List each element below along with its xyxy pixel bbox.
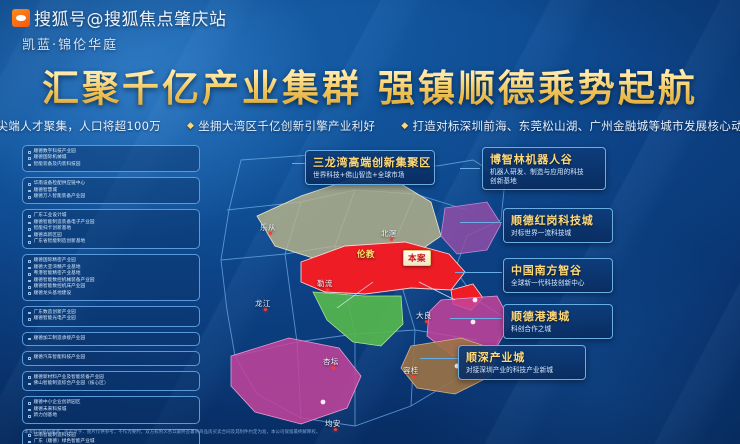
- park-item: 广东（顺德）绿色智能产业城: [28, 439, 195, 444]
- callout-title-honggang: 顺德红岗科技城: [511, 212, 605, 228]
- park-item-label: 顺德加工制造承接产业园: [34, 336, 86, 342]
- park-group-1[interactable]: 顺德数字科技产业园顺德国际机械城智能装备及内装科技园: [22, 145, 200, 172]
- square-bullet-icon: [28, 222, 31, 225]
- square-bullet-icon: [28, 338, 31, 341]
- park-item-label: 顺德龙头基地建设: [34, 291, 72, 297]
- park-group-2[interactable]: 华南设备检配供应链中心顺德智慧城顺德万人智能装备产业园: [22, 177, 200, 204]
- map-town-label: 均安: [325, 418, 341, 429]
- square-bullet-icon: [28, 376, 31, 379]
- square-bullet-icon: [28, 228, 31, 231]
- shunde-district-map: 陈村乐从北滘勒流龙江大良杏坛容桂均安 伦教 本案: [205, 150, 535, 430]
- square-bullet-icon: [28, 196, 31, 199]
- map-town-label: 勒流: [317, 278, 333, 289]
- square-bullet-icon: [28, 286, 31, 289]
- square-bullet-icon: [28, 292, 31, 295]
- page-title: 汇聚千亿产业集群 强镇顺德乘势起航: [0, 58, 740, 112]
- map-town-label: 北滘: [381, 228, 397, 239]
- square-bullet-icon: [28, 402, 31, 405]
- park-group-7[interactable]: 顺德汽车智能科技产业园: [22, 351, 200, 365]
- square-bullet-icon: [28, 215, 31, 218]
- square-bullet-icon: [28, 164, 31, 167]
- callout-title-bozhilin: 博智林机器人谷: [490, 151, 598, 167]
- bullet-list: ◆ 高尖端人才聚集，人口将超100万 ◆ 坐拥大湾区千亿创新引擎产业利好 ◆ 打…: [0, 118, 740, 134]
- callout-sub-sanlongwan: 世界科技+佛山智造+全球市场: [313, 171, 427, 180]
- square-bullet-icon: [28, 157, 31, 160]
- callout-title-gangaocheng: 顺德港澳城: [511, 308, 605, 324]
- callout-sub-gangaocheng: 科创合作之城: [511, 325, 605, 334]
- square-bullet-icon: [28, 441, 31, 444]
- square-bullet-icon: [28, 280, 31, 283]
- bullet-label-2: 坐拥大湾区千亿创新引擎产业利好: [198, 118, 375, 134]
- diamond-icon: ◆: [187, 121, 194, 131]
- lead-line-nanfangzhigu: [455, 272, 502, 273]
- square-bullet-icon: [28, 273, 31, 276]
- callout-title-nanfangzhigu: 中国南方智谷: [511, 262, 605, 278]
- park-item: 智能装备及内装科技园: [28, 162, 195, 168]
- bullet-item-1: ◆ 高尖端人才聚集，人口将超100万: [0, 118, 161, 134]
- bullet-label-1: 高尖端人才聚集，人口将超100万: [0, 118, 161, 134]
- map-town-label: 大良: [416, 310, 432, 321]
- square-bullet-icon: [28, 409, 31, 412]
- lead-line-honggang: [460, 222, 502, 223]
- park-item-label: 顺德汽车智能科技产业园: [34, 355, 86, 361]
- park-item: 顺德加工制造承接产业园: [28, 336, 195, 342]
- diamond-icon: ◆: [401, 121, 408, 131]
- park-item-label: 顺德万人智能装备产业园: [34, 194, 86, 200]
- park-item-label: 智能装备及内装科技园: [34, 162, 81, 168]
- park-group-9[interactable]: 顺德中小企业创新园区顺德未来科技城新力创基地: [22, 396, 200, 423]
- square-bullet-icon: [28, 267, 31, 270]
- park-group-6[interactable]: 顺德加工制造承接产业园: [22, 332, 200, 346]
- callout-card-shunshen[interactable]: 顺深产业城 对接深圳产业的科技产业新城: [458, 345, 586, 380]
- sohu-account-label: 搜狐号@搜狐焦点肇庆站: [34, 5, 227, 30]
- square-bullet-icon: [28, 241, 31, 244]
- square-bullet-icon: [28, 383, 31, 386]
- sohu-account-line: 搜狐号@搜狐焦点肇庆站: [12, 5, 227, 30]
- callout-card-bozhilin[interactable]: 博智林机器人谷 机器人研发、制造与应用的科技 创新基地: [482, 147, 606, 190]
- bullet-label-3: 打造对标深圳前海、东莞松山湖、广州金融城等城市发展核心动力区: [412, 118, 740, 134]
- square-bullet-icon: [28, 260, 31, 263]
- lead-line-shunshen: [420, 358, 460, 359]
- park-item: 顺德智能光电产业园: [28, 316, 195, 322]
- callout-sub-bozhilin: 机器人研发、制造与应用的科技 创新基地: [490, 168, 598, 185]
- square-bullet-icon: [28, 151, 31, 154]
- square-bullet-icon: [28, 318, 31, 321]
- map-town-label: 容桂: [403, 365, 419, 376]
- disclaimer-text: 本资料为要约邀请，所有文字、图片仅供参考，不作为要约，双方权利义务以最终签署的商…: [24, 430, 716, 436]
- bullet-item-3: ◆ 打造对标深圳前海、东莞松山湖、广州金融城等城市发展核心动力区: [401, 118, 740, 134]
- square-bullet-icon: [28, 415, 31, 418]
- callout-card-nanfangzhigu[interactable]: 中国南方智谷 全球新一代科技创新中心: [503, 258, 613, 293]
- callout-title-shunshen: 顺深产业城: [466, 349, 578, 365]
- bullet-item-2: ◆ 坐拥大湾区千亿创新引擎产业利好: [187, 118, 375, 134]
- park-item-label: 广东省智能制造创新基地: [34, 239, 86, 245]
- park-item: 新力创基地: [28, 413, 195, 419]
- callout-title-sanlongwan: 三龙湾高端创新集聚区: [313, 154, 427, 170]
- callout-card-sanlongwan[interactable]: 三龙湾高端创新集聚区 世界科技+佛山智造+全球市场: [305, 150, 435, 185]
- lead-line-bozhilin: [460, 168, 480, 169]
- square-bullet-icon: [28, 190, 31, 193]
- lead-line-sanlongwan: [292, 163, 306, 164]
- square-bullet-icon: [28, 357, 31, 360]
- map-marker-project: 本案: [403, 250, 431, 266]
- park-item: 顺德万人智能装备产业园: [28, 194, 195, 200]
- park-item: 顺德汽车智能科技产业园: [28, 355, 195, 361]
- park-group-4[interactable]: 顺德国际精密产业园顺德大亚湾精产业基地粤港智能精密产业基地顺德智能数控机械装备产…: [22, 254, 200, 300]
- park-item: 顺德龙头基地建设: [28, 291, 195, 297]
- park-item-label: 顺德智能光电产业园: [34, 316, 76, 322]
- map-town-label: 乐从: [260, 222, 276, 233]
- map-label-lunjiao: 伦教: [357, 248, 375, 260]
- map-town-label: 龙江: [255, 298, 271, 309]
- park-item-label: 新力创基地: [34, 413, 57, 419]
- park-item-label: 广东（顺德）绿色智能产业城: [34, 439, 95, 444]
- square-bullet-icon: [28, 312, 31, 315]
- park-group-5[interactable]: 广东数造创新产业园顺德智能光电产业园: [22, 306, 200, 327]
- map-town-label: 杏坛: [323, 356, 339, 367]
- callout-sub-shunshen: 对接深圳产业的科技产业新城: [466, 366, 578, 375]
- park-item-label: 佛山智能制造综合产业园（核心区）: [34, 381, 109, 387]
- estate-name-label: 凯蓝·锦伦华庭: [22, 34, 118, 53]
- callout-card-gangaocheng[interactable]: 顺德港澳城 科创合作之城: [503, 304, 613, 339]
- park-group-3[interactable]: 广东工业设计城顺德智能制造装备电子产业园智能扫卡创新基地顺德高新区园广东省智能制…: [22, 209, 200, 249]
- callout-card-honggang[interactable]: 顺德红岗科技城 对标世界一流科技城: [503, 208, 613, 243]
- lead-line-gangaocheng: [450, 318, 502, 319]
- sohu-logo-icon: [12, 9, 30, 27]
- callout-sub-nanfangzhigu: 全球新一代科技创新中心: [511, 279, 605, 288]
- park-item: 广东省智能制造创新基地: [28, 239, 195, 245]
- park-group-8[interactable]: 顺德新材料产业及智能装备产业园佛山智能制造综合产业园（核心区）: [22, 371, 200, 392]
- callout-sub-honggang: 对标世界一流科技城: [511, 229, 605, 238]
- square-bullet-icon: [28, 235, 31, 238]
- industrial-park-list: 顺德数字科技产业园顺德国际机械城智能装备及内装科技园华南设备检配供应链中心顺德智…: [22, 145, 200, 444]
- poster-canvas: 搜狐号@搜狐焦点肇庆站 凯蓝·锦伦华庭 汇聚千亿产业集群 强镇顺德乘势起航 ◆ …: [0, 0, 740, 444]
- square-bullet-icon: [28, 183, 31, 186]
- park-item: 佛山智能制造综合产业园（核心区）: [28, 381, 195, 387]
